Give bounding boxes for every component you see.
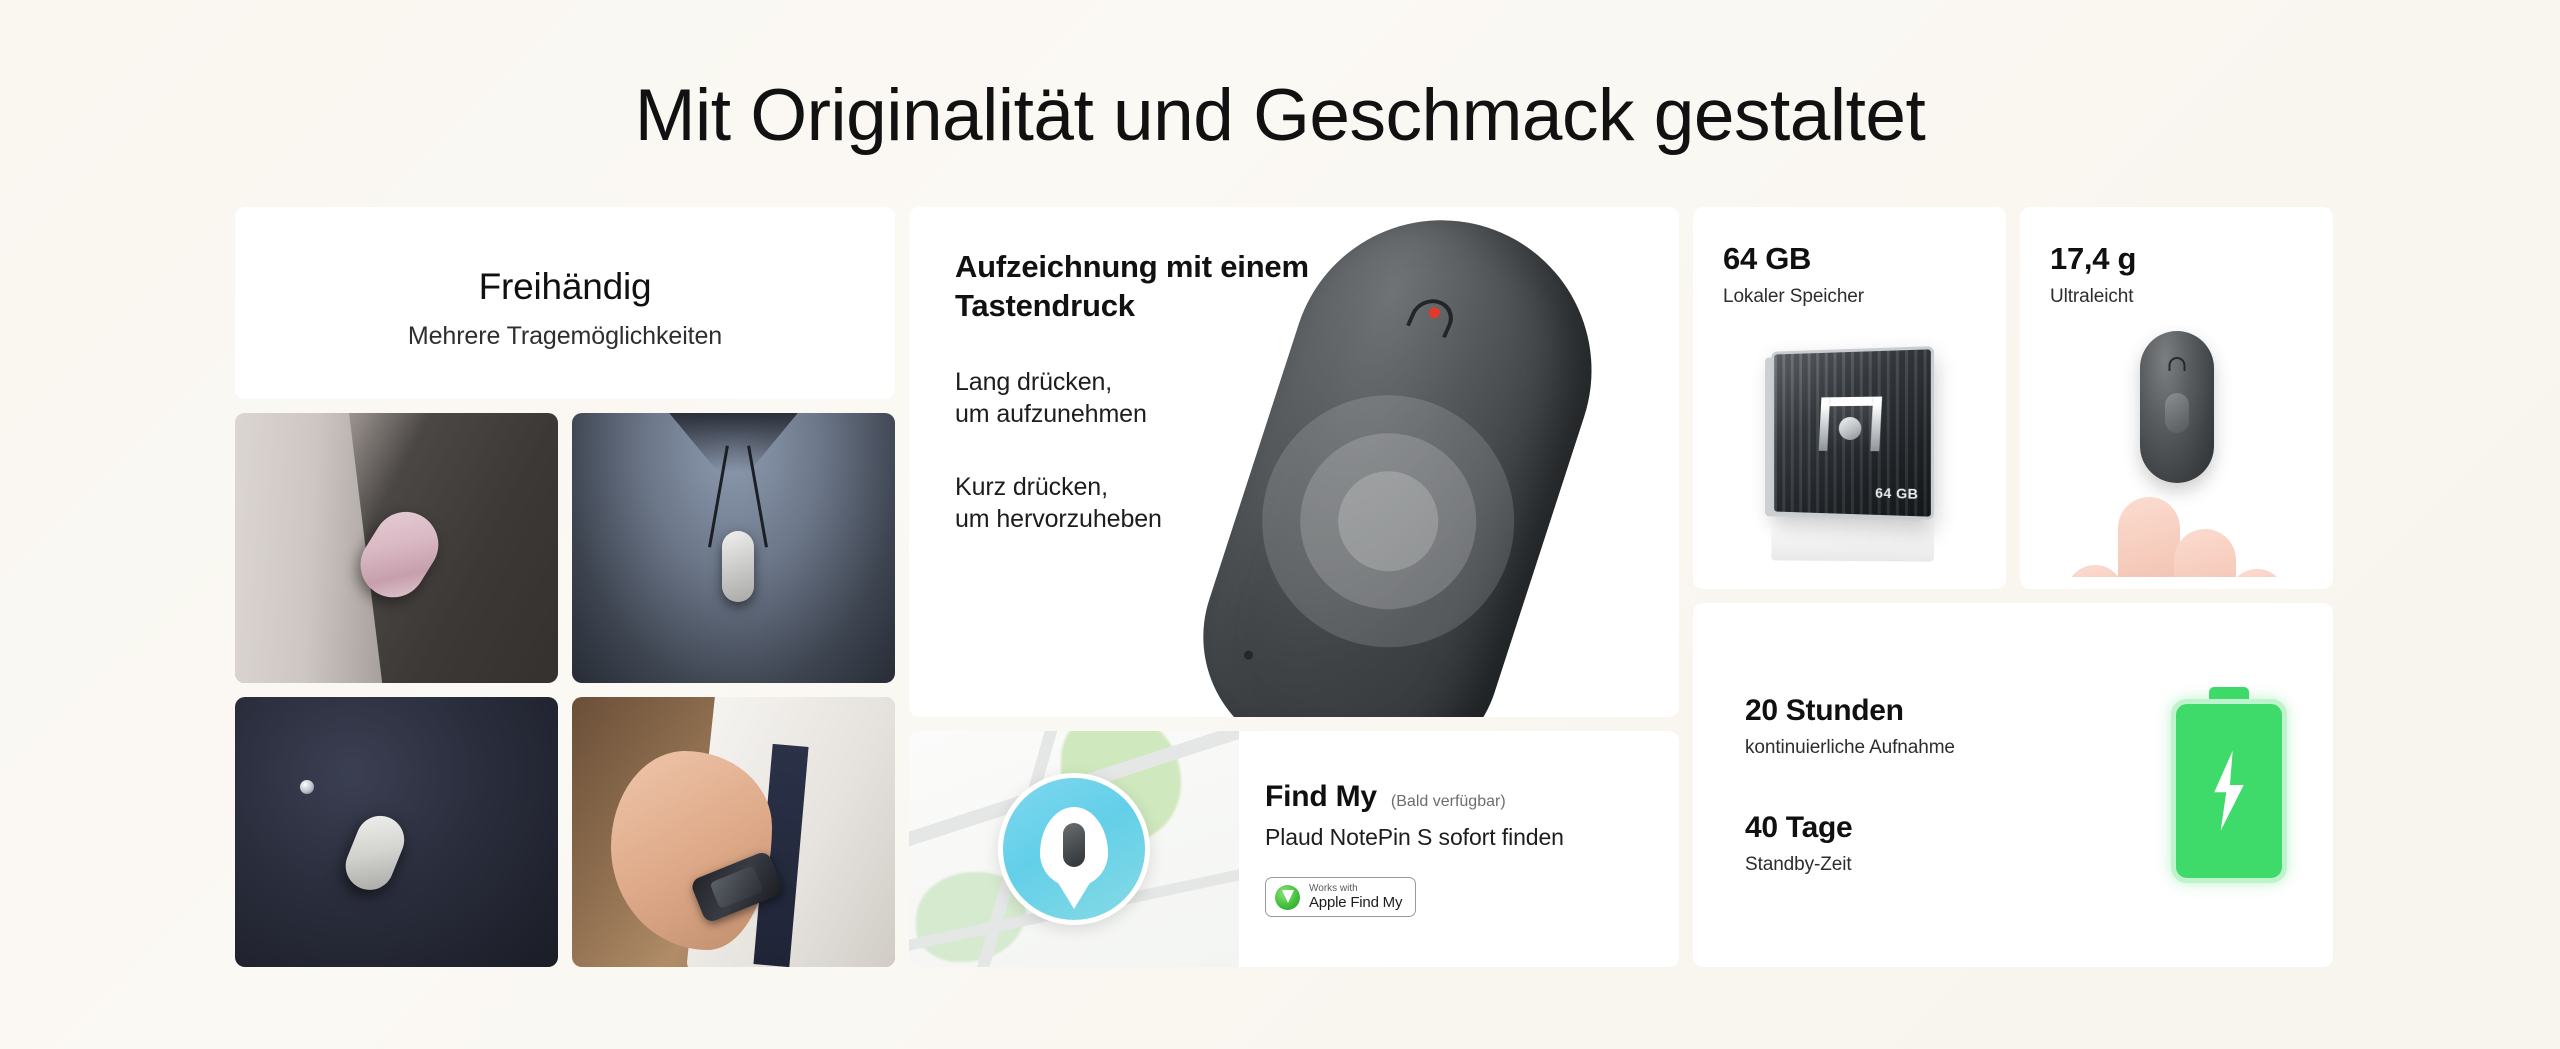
chip-logo-dot [1838, 416, 1860, 439]
map-pin-icon [1040, 807, 1108, 887]
storage-label: Lokaler Speicher [1723, 286, 1976, 308]
recording-hours-label: kontinuierliche Aufnahme [1745, 737, 2131, 759]
specs-column: 64 GB Lokaler Speicher 64 GB 17,4 g Ultr… [1693, 207, 2333, 967]
apple-badge-lines: Works with Apple Find My [1309, 884, 1402, 910]
hands-free-card: Freihändig Mehrere Tragemöglichkeiten [235, 207, 895, 399]
find-my-title: Find My [1265, 780, 1377, 814]
hand [611, 751, 773, 951]
standby-days-label: Standby-Zeit [1745, 854, 2131, 876]
find-my-card: Find My (Bald verfügbar) Plaud NotePin S… [909, 731, 1679, 967]
storage-spec-card: 64 GB Lokaler Speicher 64 GB [1693, 207, 2006, 589]
location-pin-badge [998, 773, 1150, 925]
standby-days-value: 40 Tage [1745, 811, 2131, 845]
plaud-a-logo-icon [2168, 357, 2185, 371]
battery-charging-icon [2171, 687, 2287, 883]
memory-chip-illustration: 64 GB [1767, 349, 1933, 561]
one-press-recording-card: Aufzeichnung mit einem Tastendruck Lang … [909, 207, 1679, 717]
finger-index [2118, 497, 2180, 577]
device-button [2165, 393, 2189, 433]
device-pendant-silver [722, 531, 754, 601]
finger-outer-right [2228, 569, 2286, 577]
battery-card: 20 Stunden kontinuierliche Aufnahme 40 T… [1693, 603, 2333, 967]
find-my-title-row: Find My (Bald verfügbar) [1265, 780, 1633, 814]
page-title: Mit Originalität und Geschmack gestaltet [0, 0, 2560, 155]
finger-middle [2174, 529, 2236, 577]
weight-label: Ultraleicht [2050, 286, 2303, 308]
weight-value: 17,4 g [2050, 241, 2303, 277]
recording-hours-value: 20 Stunden [1745, 694, 2131, 728]
photo-wristband [572, 697, 895, 967]
photo-lanyard-necklace [572, 413, 895, 683]
map-illustration [909, 731, 1239, 967]
apple-badge-line2: Apple Find My [1309, 895, 1402, 911]
battery-shell [2171, 699, 2287, 883]
weight-spec-card: 17,4 g Ultraleicht [2020, 207, 2333, 589]
wearing-photo-grid [235, 413, 895, 967]
apple-badge-line1: Works with [1309, 884, 1402, 895]
specs-top-row: 64 GB Lokaler Speicher 64 GB 17,4 g Ultr… [1693, 207, 2333, 589]
device-capsule [2140, 331, 2214, 483]
shirt-collar [669, 413, 798, 472]
memory-chip-icon: 64 GB [1771, 346, 1934, 520]
battery-recording-block: 20 Stunden kontinuierliche Aufnahme [1745, 694, 2131, 759]
device-in-pin [1063, 823, 1085, 867]
lightning-bolt-icon [2206, 751, 2252, 831]
storage-value: 64 GB [1723, 241, 1976, 277]
device-clip-rose [349, 499, 451, 609]
device-on-fingertips-illustration [2020, 325, 2333, 577]
apple-find-my-badge: Works with Apple Find My [1265, 877, 1416, 917]
hand-fingers [2032, 479, 2322, 577]
hands-free-column: Freihändig Mehrere Tragemöglichkeiten [235, 207, 895, 967]
pin-anchor-dot [1067, 882, 1081, 896]
device-magnet-silver [339, 809, 412, 897]
find-my-text-block: Find My (Bald verfügbar) Plaud NotePin S… [1239, 780, 1633, 917]
chip-capacity-text: 64 GB [1875, 484, 1918, 501]
find-my-availability-note: (Bald verfügbar) [1391, 793, 1506, 811]
find-my-subtitle: Plaud NotePin S sofort finden [1265, 824, 1633, 851]
photo-magnet-on-shirt [235, 697, 558, 967]
hands-free-subtitle: Mehrere Tragemöglichkeiten [408, 322, 722, 351]
battery-standby-block: 40 Tage Standby-Zeit [1745, 811, 2131, 876]
battery-text-block: 20 Stunden kontinuierliche Aufnahme 40 T… [1745, 694, 2131, 876]
apple-find-my-icon [1275, 885, 1300, 910]
finger-outer-left [2066, 565, 2124, 577]
shirt-button [300, 780, 314, 794]
feature-board: Freihändig Mehrere Tragemöglichkeiten [235, 207, 2325, 967]
recording-column: Aufzeichnung mit einem Tastendruck Lang … [909, 207, 1679, 967]
chip-reflection [1771, 520, 1934, 561]
hands-free-title: Freihändig [479, 266, 652, 308]
photo-clip-on-lapel [235, 413, 558, 683]
